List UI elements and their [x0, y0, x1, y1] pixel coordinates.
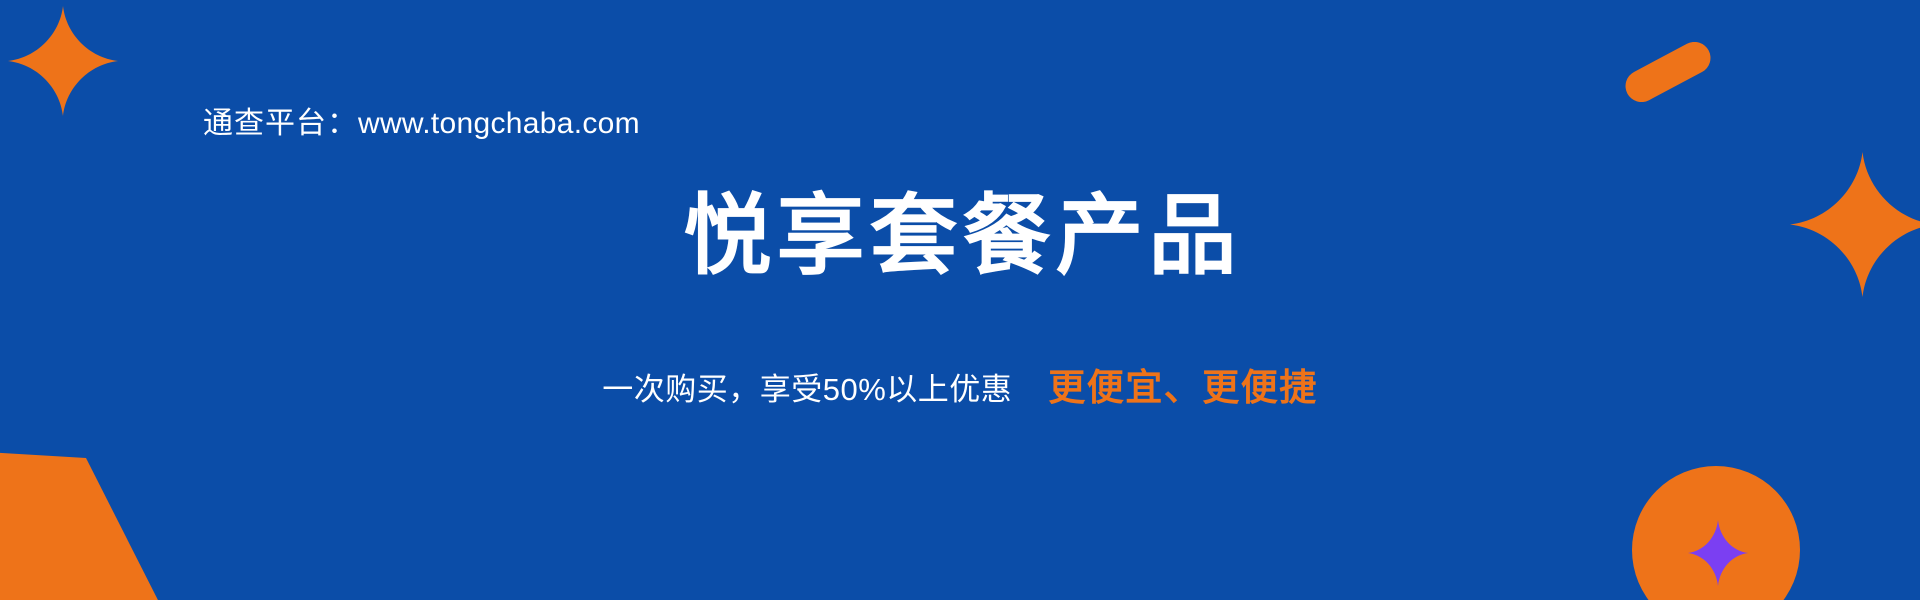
subheadline-primary: 一次购买，享受50%以上优惠	[602, 372, 1012, 407]
platform-line: 通查平台：www.tongchaba.com	[203, 109, 640, 139]
subheadline-highlight: 更便宜、更便捷	[1048, 367, 1318, 408]
content-layer: 通查平台：www.tongchaba.com 悦享套餐产品 一次购买，享受50%…	[0, 0, 1920, 600]
platform-url[interactable]: www.tongchaba.com	[358, 107, 640, 140]
page-title: 悦享套餐产品	[0, 192, 1920, 280]
platform-label: 通查平台：	[203, 107, 358, 140]
promo-banner: 通查平台：www.tongchaba.com 悦享套餐产品 一次购买，享受50%…	[0, 0, 1920, 600]
subheadline: 一次购买，享受50%以上优惠更便宜、更便捷	[0, 369, 1920, 406]
